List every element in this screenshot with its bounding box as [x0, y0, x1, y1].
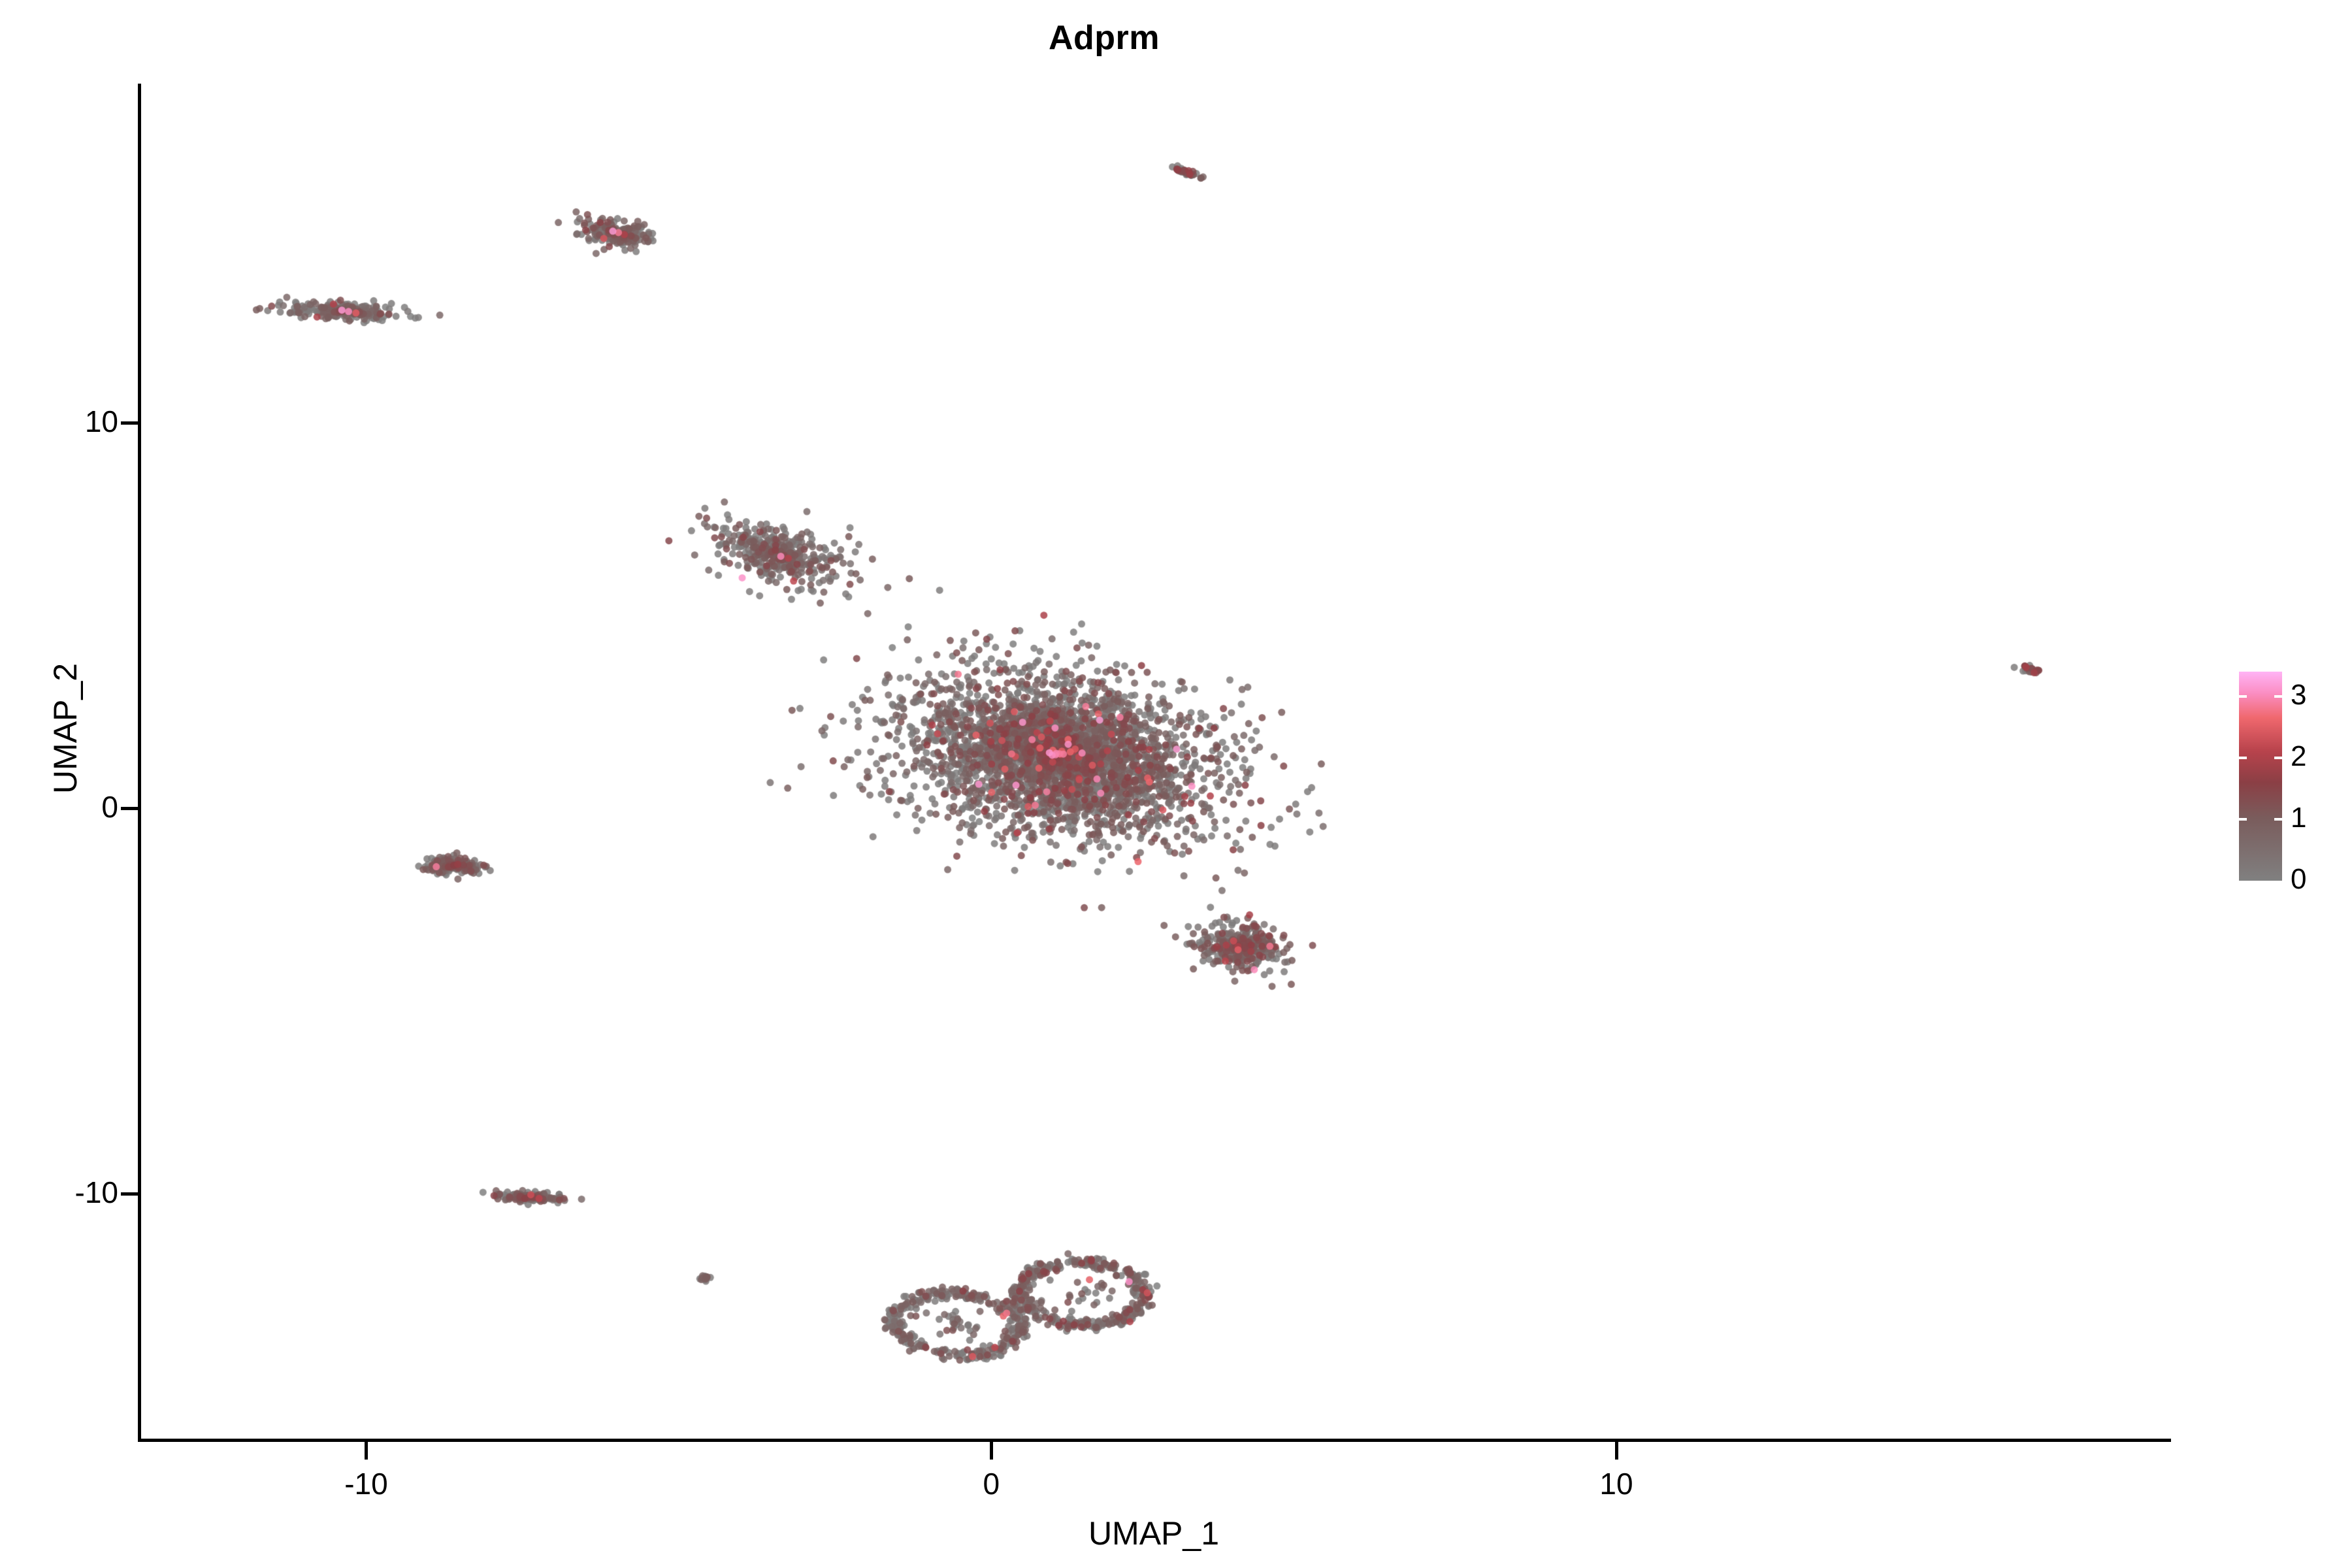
colorbar-tick-mark	[2274, 818, 2282, 821]
colorbar-tick-mark	[2274, 757, 2282, 759]
colorbar-gradient	[2239, 672, 2282, 881]
colorbar-tick-label: 1	[2291, 804, 2343, 832]
plot-panel	[141, 84, 2166, 1440]
colorbar-tick-label: 0	[2291, 865, 2343, 894]
y-axis-title: UMAP_2	[46, 402, 84, 1055]
umap-feature-plot: Adprm 100-10-10010 UMAP_1 UMAP_2 3210	[0, 0, 2352, 1568]
x-axis-line	[138, 1439, 2171, 1442]
x-axis-title: UMAP_1	[141, 1514, 2166, 1552]
colorbar-tick-label: 3	[2291, 681, 2343, 710]
x-tick-label: 0	[893, 1469, 1089, 1499]
y-tick-label: -10	[0, 1177, 118, 1207]
x-tick-mark	[1615, 1442, 1618, 1460]
colorbar-tick-mark	[2239, 818, 2247, 821]
colorbar-tick-mark	[2274, 695, 2282, 698]
y-tick-mark	[121, 421, 139, 425]
x-tick-mark	[990, 1442, 993, 1460]
x-tick-mark	[365, 1442, 368, 1460]
colorbar-tick-mark	[2239, 695, 2247, 698]
colorbar-tick-label: 2	[2291, 742, 2343, 771]
scatter-points-layer	[141, 84, 2166, 1440]
y-tick-mark	[121, 807, 139, 810]
y-tick-mark	[121, 1192, 139, 1196]
x-tick-label: -10	[268, 1469, 464, 1499]
colorbar-tick-mark	[2239, 757, 2247, 759]
y-axis-line	[138, 84, 141, 1442]
color-legend: 3210	[2234, 666, 2345, 889]
page-title: Adprm	[0, 18, 2208, 57]
x-tick-label: 10	[1518, 1469, 1714, 1499]
